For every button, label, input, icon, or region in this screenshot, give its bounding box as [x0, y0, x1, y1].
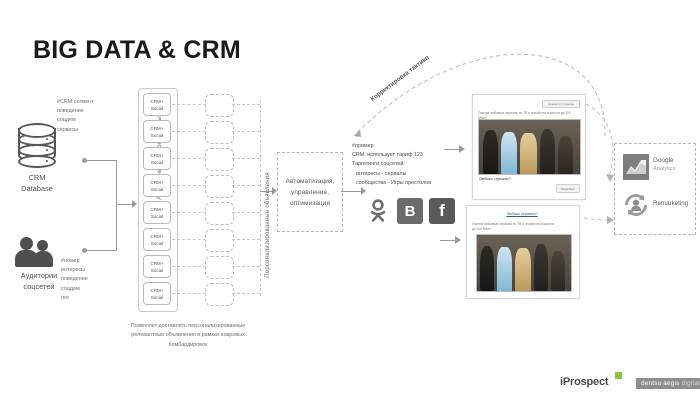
page-title: BIG DATA & CRM	[33, 36, 241, 65]
ads-bus-stub	[232, 131, 260, 132]
ga-label-line2: Analytics	[653, 165, 675, 174]
vkontakte-icon[interactable]: B	[397, 198, 423, 224]
ad-top-title: Любишь сериалы?	[479, 177, 510, 181]
segment-item[interactable]: CRM+Social	[143, 228, 171, 251]
dentsu-word-1: dentsu	[641, 380, 663, 387]
segment-item[interactable]: CRM+Social	[143, 282, 171, 305]
automation-line1: Автоматизация,	[286, 176, 335, 187]
automation-line3: оптимизация	[286, 198, 335, 209]
personalized-ad-box[interactable]	[205, 202, 234, 225]
segment-line2: Social	[144, 294, 170, 301]
personalized-ad-box[interactable]	[205, 94, 234, 117]
segment-line2: Social	[144, 213, 170, 220]
social-networks-row: B f	[365, 198, 455, 228]
social-note-line-4: гео	[61, 294, 123, 303]
segment-line1: CRM+	[144, 287, 170, 294]
diagram-caption: Позволяет доставлять персонализированные…	[126, 322, 250, 350]
like-page-button[interactable]: Нравится Страница	[542, 100, 580, 108]
personalized-ad-box[interactable]	[205, 148, 234, 171]
ga-label-line1: Google	[653, 156, 675, 165]
dentsu-word-2: aegis	[663, 380, 681, 387]
ad-bottom-body-line2: до 100 Мбит!	[472, 227, 576, 232]
social-to-ad-bottom-line	[440, 240, 456, 241]
segment-item[interactable]: CRM+Social	[143, 147, 171, 170]
ads-bus-stub	[232, 212, 260, 213]
ad-screenshot-top[interactable]: Нравится Страница Смотри любимые сериалы…	[472, 94, 586, 200]
segment-line1: CRM+	[144, 98, 170, 105]
segment-line1: CRM+	[144, 260, 170, 267]
segment-item[interactable]: CRM+Social	[143, 174, 171, 197]
social-note-line-0: #номер	[61, 257, 123, 266]
merge-arrow-head	[132, 200, 137, 208]
segment-line2: Social	[144, 186, 170, 193]
iprospect-logo: iProspect	[560, 376, 608, 388]
personalized-ads-axis-label: Персонализированные объявления	[265, 145, 271, 305]
segment-ad-link	[172, 131, 206, 132]
ads-bus-stub	[232, 239, 260, 240]
personalized-ad-box[interactable]	[205, 121, 234, 144]
segment-line2: Social	[144, 159, 170, 166]
segment-item[interactable]: CRM+Social	[143, 201, 171, 224]
segment-ad-link	[172, 212, 206, 213]
ads-bus-stub	[232, 158, 260, 159]
segment-ad-link	[172, 239, 206, 240]
segment-line2: Social	[144, 240, 170, 247]
social-note-line-1: интересы	[61, 266, 123, 275]
social-audience-icon	[14, 236, 62, 268]
segment-ad-link	[172, 293, 206, 294]
crm-note-line-1: поведение	[57, 107, 119, 116]
ads-bus-stub	[232, 104, 260, 105]
segment-line1: CRM+	[144, 206, 170, 213]
segment-line1: CRM+	[144, 125, 170, 132]
ad-top-image	[478, 119, 581, 175]
automation-to-social-line	[341, 191, 363, 192]
social-attributes-note: #номер интересы поведение соцдем гео	[61, 257, 123, 303]
ad-bottom-title[interactable]: Любишь сериалы?	[472, 212, 572, 216]
personalized-ad-box[interactable]	[205, 283, 234, 306]
personalized-ad-box[interactable]	[205, 175, 234, 198]
crm-database-label-line1: CRM	[6, 172, 68, 183]
odnoklassniki-icon[interactable]	[365, 198, 391, 224]
automation-line2: управление,	[286, 187, 335, 198]
personalized-ad-box[interactable]	[205, 256, 234, 279]
segment-item[interactable]: CRM+Social	[143, 120, 171, 143]
crm-database-label: CRM Database	[6, 172, 68, 194]
social-connector-line	[85, 250, 117, 251]
example-line2: Таргетинги соцсетей:	[352, 160, 472, 169]
automation-to-social-arrow	[361, 187, 366, 195]
segment-line2: Social	[144, 132, 170, 139]
segment-ad-link	[172, 104, 206, 105]
crm-note-line-2: соцдем	[57, 116, 119, 125]
segment-item[interactable]: CRM+Social	[143, 255, 171, 278]
social-note-line-3: соцдем	[61, 285, 123, 294]
crm-note-line-0: #CRM сегмент	[57, 98, 119, 107]
crm-database-label-line2: Database	[6, 183, 68, 194]
merge-vertical-line	[116, 160, 117, 251]
crm-note-line-3: сервисы	[57, 126, 119, 135]
segment-item[interactable]: CRM+Social	[143, 93, 171, 116]
segment-line1: CRM+	[144, 233, 170, 240]
ads-bus-line	[260, 100, 261, 296]
example-line4: сообщества - Игры престолов	[352, 179, 472, 188]
crm-attributes-note: #CRM сегмент поведение соцдем сервисы	[57, 98, 119, 135]
ad-bottom-body-line1: Смотри любимые сериалы по ТВ и онлайн на…	[472, 222, 576, 227]
segment-line2: Social	[144, 267, 170, 274]
segment-ad-link	[172, 185, 206, 186]
crm-connector-line	[85, 160, 117, 161]
dentsu-word-3: digital	[682, 380, 700, 387]
analytics-box: Google Analytics Remarketing	[614, 143, 696, 235]
crm-database-icon	[14, 123, 60, 171]
ads-bus-stub	[232, 266, 260, 267]
ads-bus-stub	[232, 185, 260, 186]
segment-line1: CRM+	[144, 179, 170, 186]
ad-bottom-image	[476, 234, 572, 292]
segment-ad-link	[172, 158, 206, 159]
google-analytics-label: Google Analytics	[653, 156, 675, 174]
ad-top-cta-button[interactable]: Подробнее	[556, 184, 580, 193]
ad-screenshot-bottom[interactable]: Любишь сериалы? Смотри любимые сериалы п…	[466, 205, 580, 299]
segment-line1: CRM+	[144, 152, 170, 159]
social-to-ad-top-line	[444, 149, 460, 150]
social-note-line-2: поведение	[61, 275, 123, 284]
remarketing-icon	[623, 192, 649, 218]
facebook-icon[interactable]: f	[429, 198, 455, 224]
dentsu-aegis-digital-logo: dentsu aegis digital	[636, 378, 700, 389]
remarketing-label: Remarketing	[653, 200, 688, 207]
personalized-ad-box[interactable]	[205, 229, 234, 252]
ads-bus-stub	[232, 293, 260, 294]
google-analytics-icon	[623, 154, 649, 180]
segment-line2: Social	[144, 105, 170, 112]
segment-ad-link	[172, 266, 206, 267]
automation-box[interactable]: Автоматизация, управление, оптимизация	[277, 152, 343, 232]
iprospect-accent-square	[615, 372, 622, 379]
example-line3: интересы - сериалы	[352, 170, 472, 179]
